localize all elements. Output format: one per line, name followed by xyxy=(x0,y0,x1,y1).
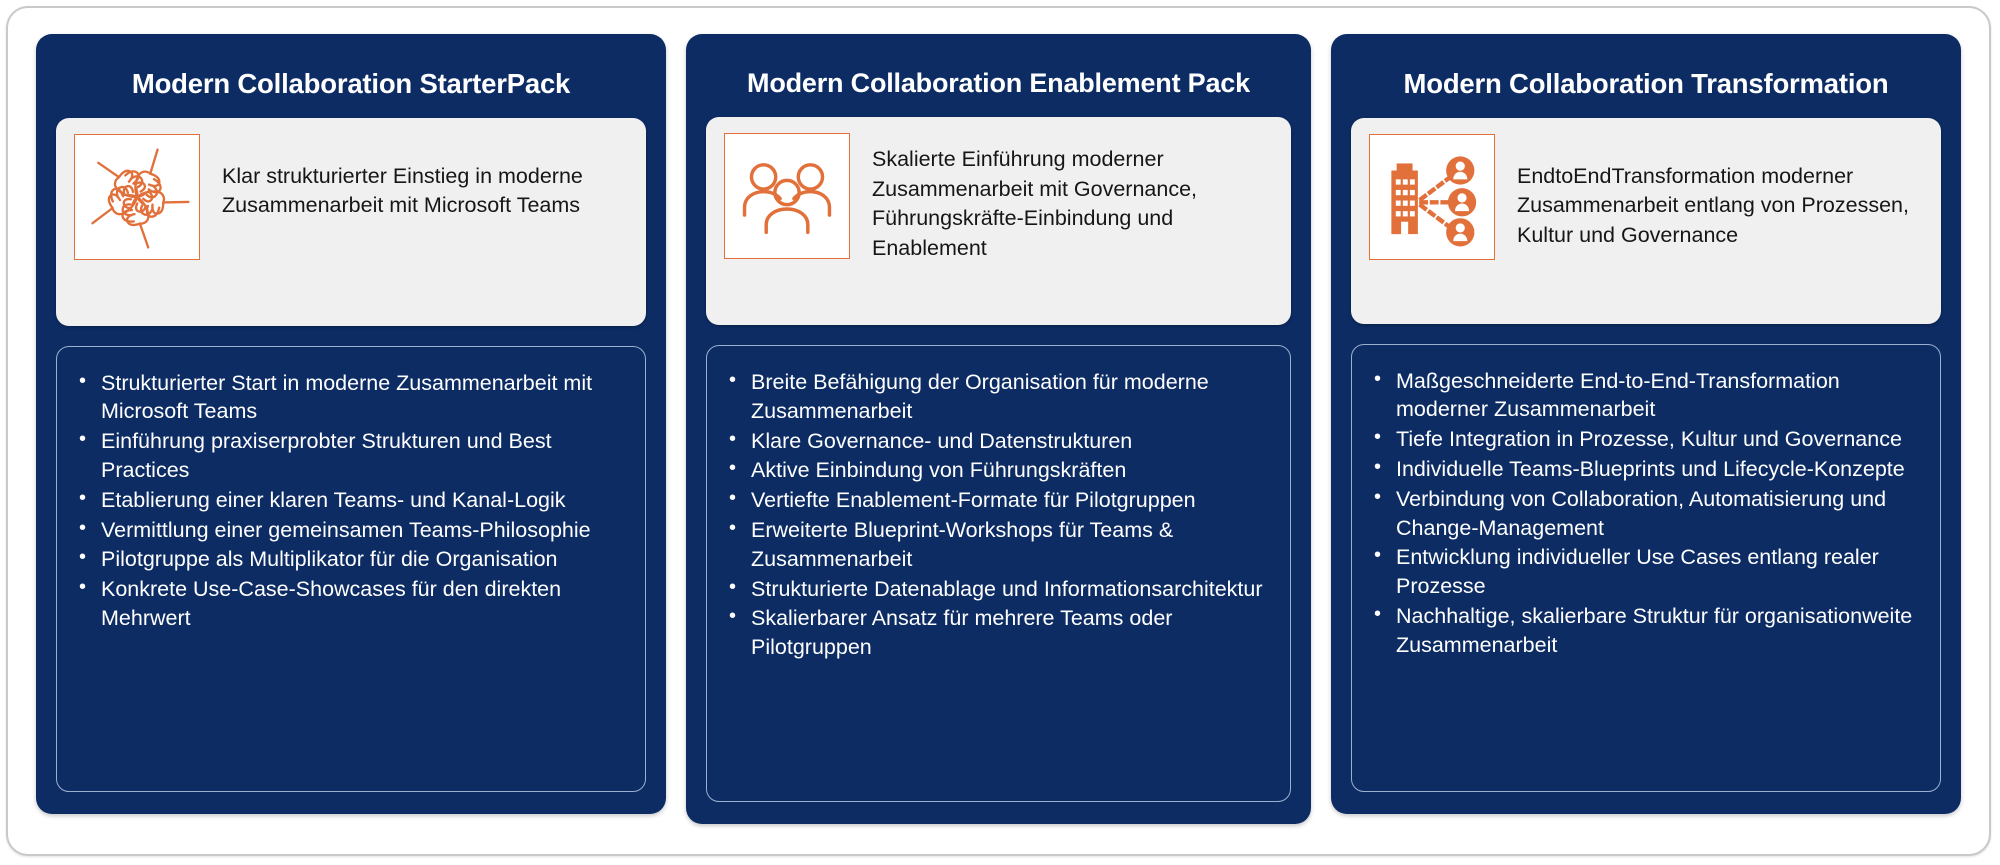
card-summary-text: Skalierte Einführung moderner Zusammenar… xyxy=(872,133,1273,264)
list-item: Maßgeschneiderte End-to-End-Transformati… xyxy=(1366,367,1920,425)
list-item: Einführung praxiserprobter Strukturen un… xyxy=(71,427,625,485)
list-item: Erweiterte Blueprint-Workshops für Teams… xyxy=(721,516,1270,574)
card-bullet-box: Breite Befähigung der Organisation für m… xyxy=(706,345,1291,802)
list-item: Etablierung einer klaren Teams- und Kana… xyxy=(71,486,625,515)
list-item: Pilotgruppe als Multiplikator für die Or… xyxy=(71,545,625,574)
list-item: Strukturierter Start in moderne Zusammen… xyxy=(71,369,625,427)
card-bullet-list: Maßgeschneiderte End-to-End-Transformati… xyxy=(1366,367,1920,660)
list-item: Tiefe Integration in Prozesse, Kultur un… xyxy=(1366,425,1920,454)
card-title: Modern Collaboration StarterPack xyxy=(56,52,646,118)
hands-circle-icon xyxy=(74,134,200,260)
card-bullet-box: Strukturierter Start in moderne Zusammen… xyxy=(56,346,646,792)
pack-card-enablement-pack[interactable]: Modern Collaboration Enablement Pack Ska… xyxy=(686,34,1311,824)
card-summary-box: EndtoEndTransformation moderner Zusammen… xyxy=(1351,118,1941,324)
list-item: Verbindung von Collaboration, Automatisi… xyxy=(1366,485,1920,543)
list-item: Aktive Einbindung von Führungskräften xyxy=(721,456,1270,485)
list-item: Skalierbarer Ansatz für mehrere Teams od… xyxy=(721,604,1270,662)
pack-card-transformation[interactable]: Modern Collaboration Transformation xyxy=(1331,34,1961,814)
slide-frame: Modern Collaboration StarterPack xyxy=(6,6,1991,856)
list-item: Vermittlung einer gemeinsamen Teams-Phil… xyxy=(71,516,625,545)
card-summary-box: Klar strukturierter Einstieg in moderne … xyxy=(56,118,646,326)
list-item: Individuelle Teams-Blueprints und Lifecy… xyxy=(1366,455,1920,484)
building-network-people-icon xyxy=(1369,134,1495,260)
three-people-group-icon xyxy=(724,133,850,259)
card-title: Modern Collaboration Enablement Pack xyxy=(706,52,1291,117)
card-bullet-box: Maßgeschneiderte End-to-End-Transformati… xyxy=(1351,344,1941,792)
list-item: Nachhaltige, skalierbare Struktur für or… xyxy=(1366,602,1920,660)
card-bullet-list: Strukturierter Start in moderne Zusammen… xyxy=(71,369,625,633)
card-summary-text: EndtoEndTransformation moderner Zusammen… xyxy=(1517,134,1923,251)
list-item: Strukturierte Datenablage und Informatio… xyxy=(721,575,1270,604)
card-summary-text: Klar strukturierter Einstieg in moderne … xyxy=(222,134,628,221)
pack-card-starterpack[interactable]: Modern Collaboration StarterPack xyxy=(36,34,666,814)
card-summary-box: Skalierte Einführung moderner Zusammenar… xyxy=(706,117,1291,325)
card-bullet-list: Breite Befähigung der Organisation für m… xyxy=(721,368,1270,662)
list-item: Entwicklung individueller Use Cases entl… xyxy=(1366,543,1920,601)
card-title: Modern Collaboration Transformation xyxy=(1351,52,1941,118)
pack-cards-row: Modern Collaboration StarterPack xyxy=(8,8,1989,854)
list-item: Vertiefte Enablement-Formate für Pilotgr… xyxy=(721,486,1270,515)
list-item: Konkrete Use-Case-Showcases für den dire… xyxy=(71,575,625,633)
list-item: Klare Governance- und Datenstrukturen xyxy=(721,427,1270,456)
list-item: Breite Befähigung der Organisation für m… xyxy=(721,368,1270,426)
